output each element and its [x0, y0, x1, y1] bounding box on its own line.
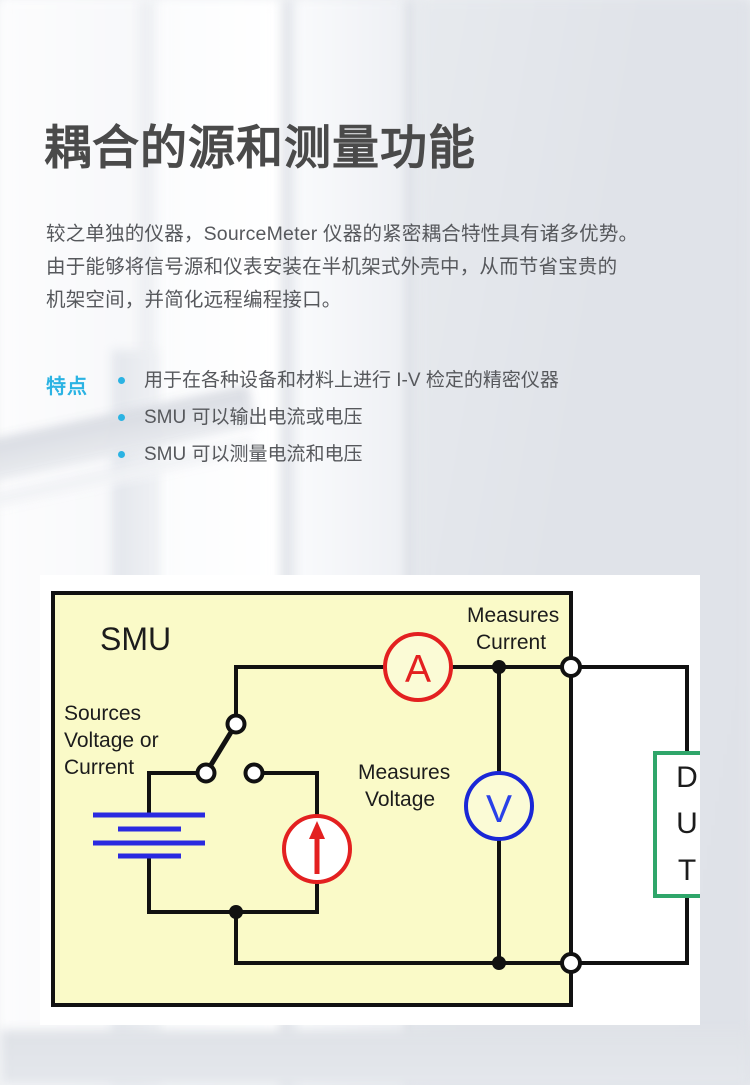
- dut-letter-t: T: [678, 854, 696, 887]
- measures-current-line1: Measures: [467, 604, 559, 627]
- dut-box: D U T: [655, 753, 700, 896]
- list-item: SMU 可以测量电流和电压: [118, 440, 559, 477]
- feature-text: SMU 可以输出电流或电压: [144, 403, 363, 433]
- bullet-dot-icon: [118, 377, 125, 384]
- measures-voltage-line2: Voltage: [365, 788, 435, 811]
- page-title: 耦合的源和测量功能: [44, 122, 476, 174]
- bullet-dot-icon: [118, 451, 125, 458]
- measures-current-line2: Current: [476, 631, 546, 654]
- voltmeter-symbol: V: [466, 773, 532, 839]
- paragraph-line-1: 较之单独的仪器，SourceMeter 仪器的紧密耦合特性具有诸多优势。: [46, 218, 716, 251]
- intro-paragraph: 较之单独的仪器，SourceMeter 仪器的紧密耦合特性具有诸多优势。 由于能…: [46, 218, 716, 317]
- voltmeter-letter: V: [486, 788, 512, 831]
- feature-text: 用于在各种设备和材料上进行 I-V 检定的精密仪器: [144, 366, 559, 396]
- features-list: 用于在各种设备和材料上进行 I-V 检定的精密仪器 SMU 可以输出电流或电压 …: [118, 366, 559, 477]
- smu-label: SMU: [100, 621, 171, 657]
- smu-circuit-diagram: A V: [40, 575, 700, 1025]
- dut-letter-u: U: [676, 807, 698, 840]
- feature-text: SMU 可以测量电流和电压: [144, 440, 363, 470]
- measures-voltage-line1: Measures: [358, 761, 450, 784]
- list-item: 用于在各种设备和材料上进行 I-V 检定的精密仪器: [118, 366, 559, 403]
- sources-label-line2: Voltage or: [64, 729, 159, 752]
- paragraph-line-2: 由于能够将信号源和仪表安装在半机架式外壳中，从而节省宝贵的: [46, 251, 716, 284]
- ammeter-letter: A: [405, 648, 431, 691]
- list-item: SMU 可以输出电流或电压: [118, 403, 559, 440]
- bullet-dot-icon: [118, 414, 125, 421]
- current-source-symbol: [284, 816, 350, 882]
- ammeter-symbol: A: [385, 634, 451, 700]
- dut-letter-d: D: [676, 761, 698, 794]
- sources-label-line1: Sources: [64, 702, 141, 725]
- features-label: 特点: [46, 370, 88, 399]
- sources-label-line3: Current: [64, 756, 134, 779]
- paragraph-line-3: 机架空间，并简化远程编程接口。: [46, 284, 716, 317]
